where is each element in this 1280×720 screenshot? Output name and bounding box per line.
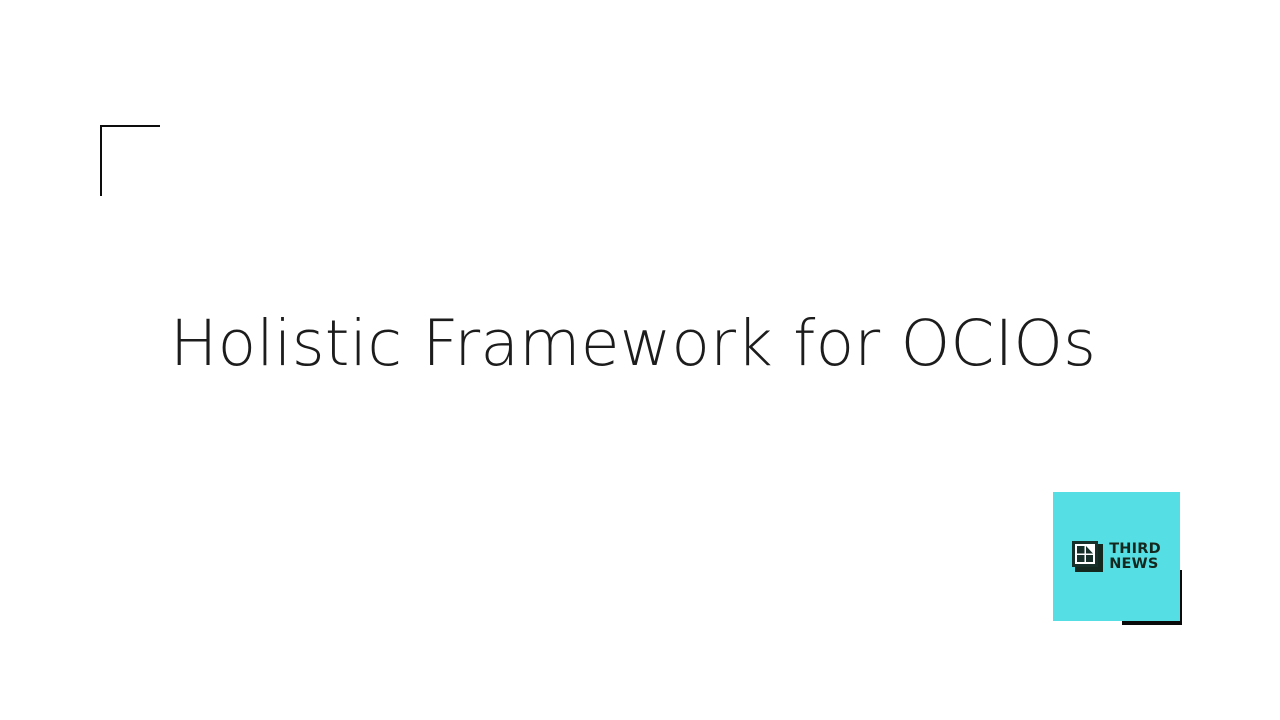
presentation-slide: Holistic Framework for OCIOs <box>0 0 1280 720</box>
logo-wordmark: THIRD NEWS <box>1109 542 1161 572</box>
logo-lockup[interactable]: THIRD NEWS <box>1053 492 1182 625</box>
logo-wordmark-line-2: NEWS <box>1109 557 1161 572</box>
page-title: Holistic Framework for OCIOs <box>170 309 1096 380</box>
logo-content: THIRD NEWS <box>1053 492 1180 621</box>
corner-bracket-decoration <box>100 125 160 196</box>
newspaper-window-icon <box>1072 541 1103 572</box>
title-placeholder[interactable]: Holistic Framework for OCIOs <box>170 296 1070 392</box>
logo-wordmark-line-1: THIRD <box>1109 542 1161 557</box>
